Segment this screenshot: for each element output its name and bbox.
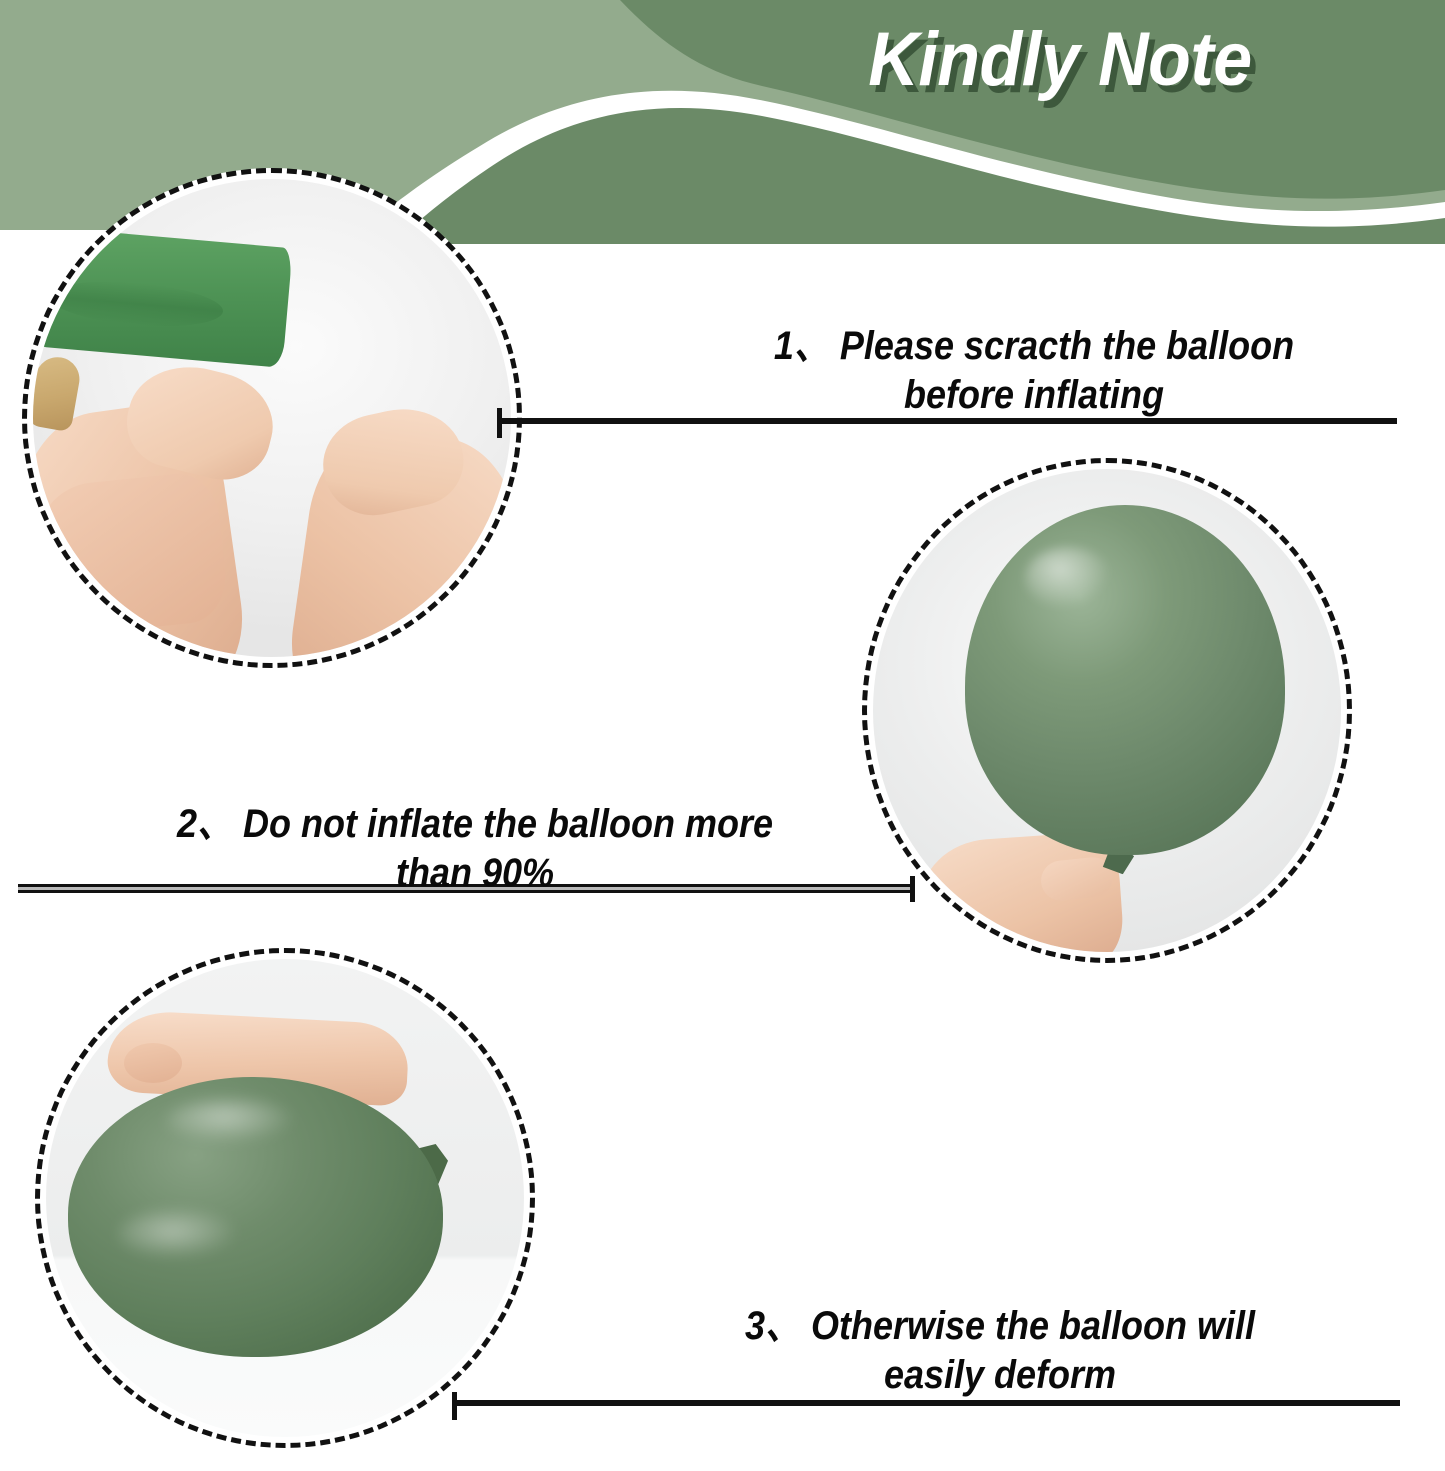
balloon-highlight-bottom	[118, 1209, 238, 1259]
kindly-note-infographic: Kindly Note	[0, 0, 1445, 1471]
pressing-hand-knuckle	[124, 1043, 182, 1083]
deformed-balloon-photo	[35, 948, 535, 1448]
inflated-balloon-photo-inner	[873, 469, 1341, 952]
inflated-balloon-photo	[862, 458, 1352, 963]
rule-3	[452, 1400, 1400, 1406]
note-item-1: 1、 Please scracth the balloon before inf…	[701, 322, 1367, 420]
stretch-balloon-photo-inner	[33, 179, 511, 657]
page-title: Kindly Note	[766, 22, 1355, 98]
rule-3-left-cap	[452, 1392, 457, 1420]
note-item-3: 3、 Otherwise the balloon will easily def…	[658, 1302, 1342, 1400]
left-hand-fingers	[33, 470, 230, 639]
stretch-balloon-photo	[22, 168, 522, 668]
balloon-highlight	[1025, 547, 1111, 609]
rule-2-right-cap	[910, 876, 915, 902]
uninflated-balloon	[33, 226, 293, 368]
balloon-highlight-top	[166, 1099, 296, 1143]
inflated-balloon	[965, 505, 1285, 855]
deformed-balloon-photo-inner	[46, 959, 524, 1437]
note-item-2: 2、 Do not inflate the balloon more than …	[102, 800, 849, 898]
